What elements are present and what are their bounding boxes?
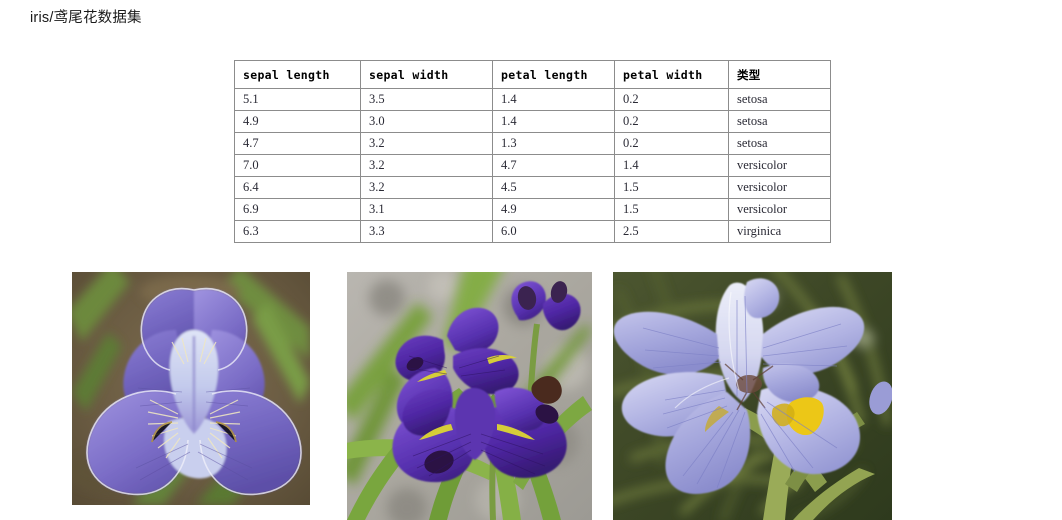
cell-type: setosa <box>729 133 831 155</box>
table-row: 6.4 3.2 4.5 1.5 versicolor <box>235 177 831 199</box>
cell-petal-width: 0.2 <box>615 111 729 133</box>
column-header-sepal-length: sepal length <box>235 61 361 89</box>
table-header-row: sepal length sepal width petal length pe… <box>235 61 831 89</box>
page-title: iris/鸢尾花数据集 <box>30 6 142 27</box>
cell-type: versicolor <box>729 155 831 177</box>
table-row: 4.9 3.0 1.4 0.2 setosa <box>235 111 831 133</box>
cell-type: virginica <box>729 221 831 243</box>
table-row: 6.3 3.3 6.0 2.5 virginica <box>235 221 831 243</box>
iris-table-container: sepal length sepal width petal length pe… <box>234 60 830 243</box>
cell-sepal-width: 3.2 <box>361 155 493 177</box>
cell-sepal-width: 3.1 <box>361 199 493 221</box>
cell-petal-length: 6.0 <box>493 221 615 243</box>
column-header-petal-length: petal length <box>493 61 615 89</box>
cell-petal-length: 4.9 <box>493 199 615 221</box>
cell-petal-length: 1.4 <box>493 89 615 111</box>
iris-photo-setosa <box>72 272 310 505</box>
column-header-type: 类型 <box>729 61 831 89</box>
cell-sepal-length: 6.4 <box>235 177 361 199</box>
cell-sepal-length: 6.3 <box>235 221 361 243</box>
cell-petal-width: 0.2 <box>615 133 729 155</box>
cell-petal-length: 1.3 <box>493 133 615 155</box>
cell-petal-length: 4.5 <box>493 177 615 199</box>
cell-sepal-width: 3.5 <box>361 89 493 111</box>
table-row: 6.9 3.1 4.9 1.5 versicolor <box>235 199 831 221</box>
cell-sepal-length: 4.9 <box>235 111 361 133</box>
cell-sepal-length: 6.9 <box>235 199 361 221</box>
cell-type: setosa <box>729 111 831 133</box>
cell-petal-width: 1.5 <box>615 199 729 221</box>
cell-petal-width: 2.5 <box>615 221 729 243</box>
cell-sepal-length: 5.1 <box>235 89 361 111</box>
table-row: 4.7 3.2 1.3 0.2 setosa <box>235 133 831 155</box>
iris-photo-virginica <box>613 272 892 520</box>
cell-type: setosa <box>729 89 831 111</box>
column-header-sepal-width: sepal width <box>361 61 493 89</box>
cell-sepal-length: 4.7 <box>235 133 361 155</box>
cell-petal-length: 1.4 <box>493 111 615 133</box>
table-row: 5.1 3.5 1.4 0.2 setosa <box>235 89 831 111</box>
cell-petal-width: 1.5 <box>615 177 729 199</box>
cell-petal-length: 4.7 <box>493 155 615 177</box>
iris-dataset-table: sepal length sepal width petal length pe… <box>234 60 831 243</box>
cell-petal-width: 1.4 <box>615 155 729 177</box>
cell-sepal-width: 3.2 <box>361 177 493 199</box>
table-row: 7.0 3.2 4.7 1.4 versicolor <box>235 155 831 177</box>
cell-type: versicolor <box>729 177 831 199</box>
cell-sepal-width: 3.2 <box>361 133 493 155</box>
column-header-petal-width: petal width <box>615 61 729 89</box>
cell-sepal-length: 7.0 <box>235 155 361 177</box>
iris-photo-versicolor <box>347 272 592 520</box>
cell-sepal-width: 3.0 <box>361 111 493 133</box>
cell-sepal-width: 3.3 <box>361 221 493 243</box>
cell-type: versicolor <box>729 199 831 221</box>
cell-petal-width: 0.2 <box>615 89 729 111</box>
